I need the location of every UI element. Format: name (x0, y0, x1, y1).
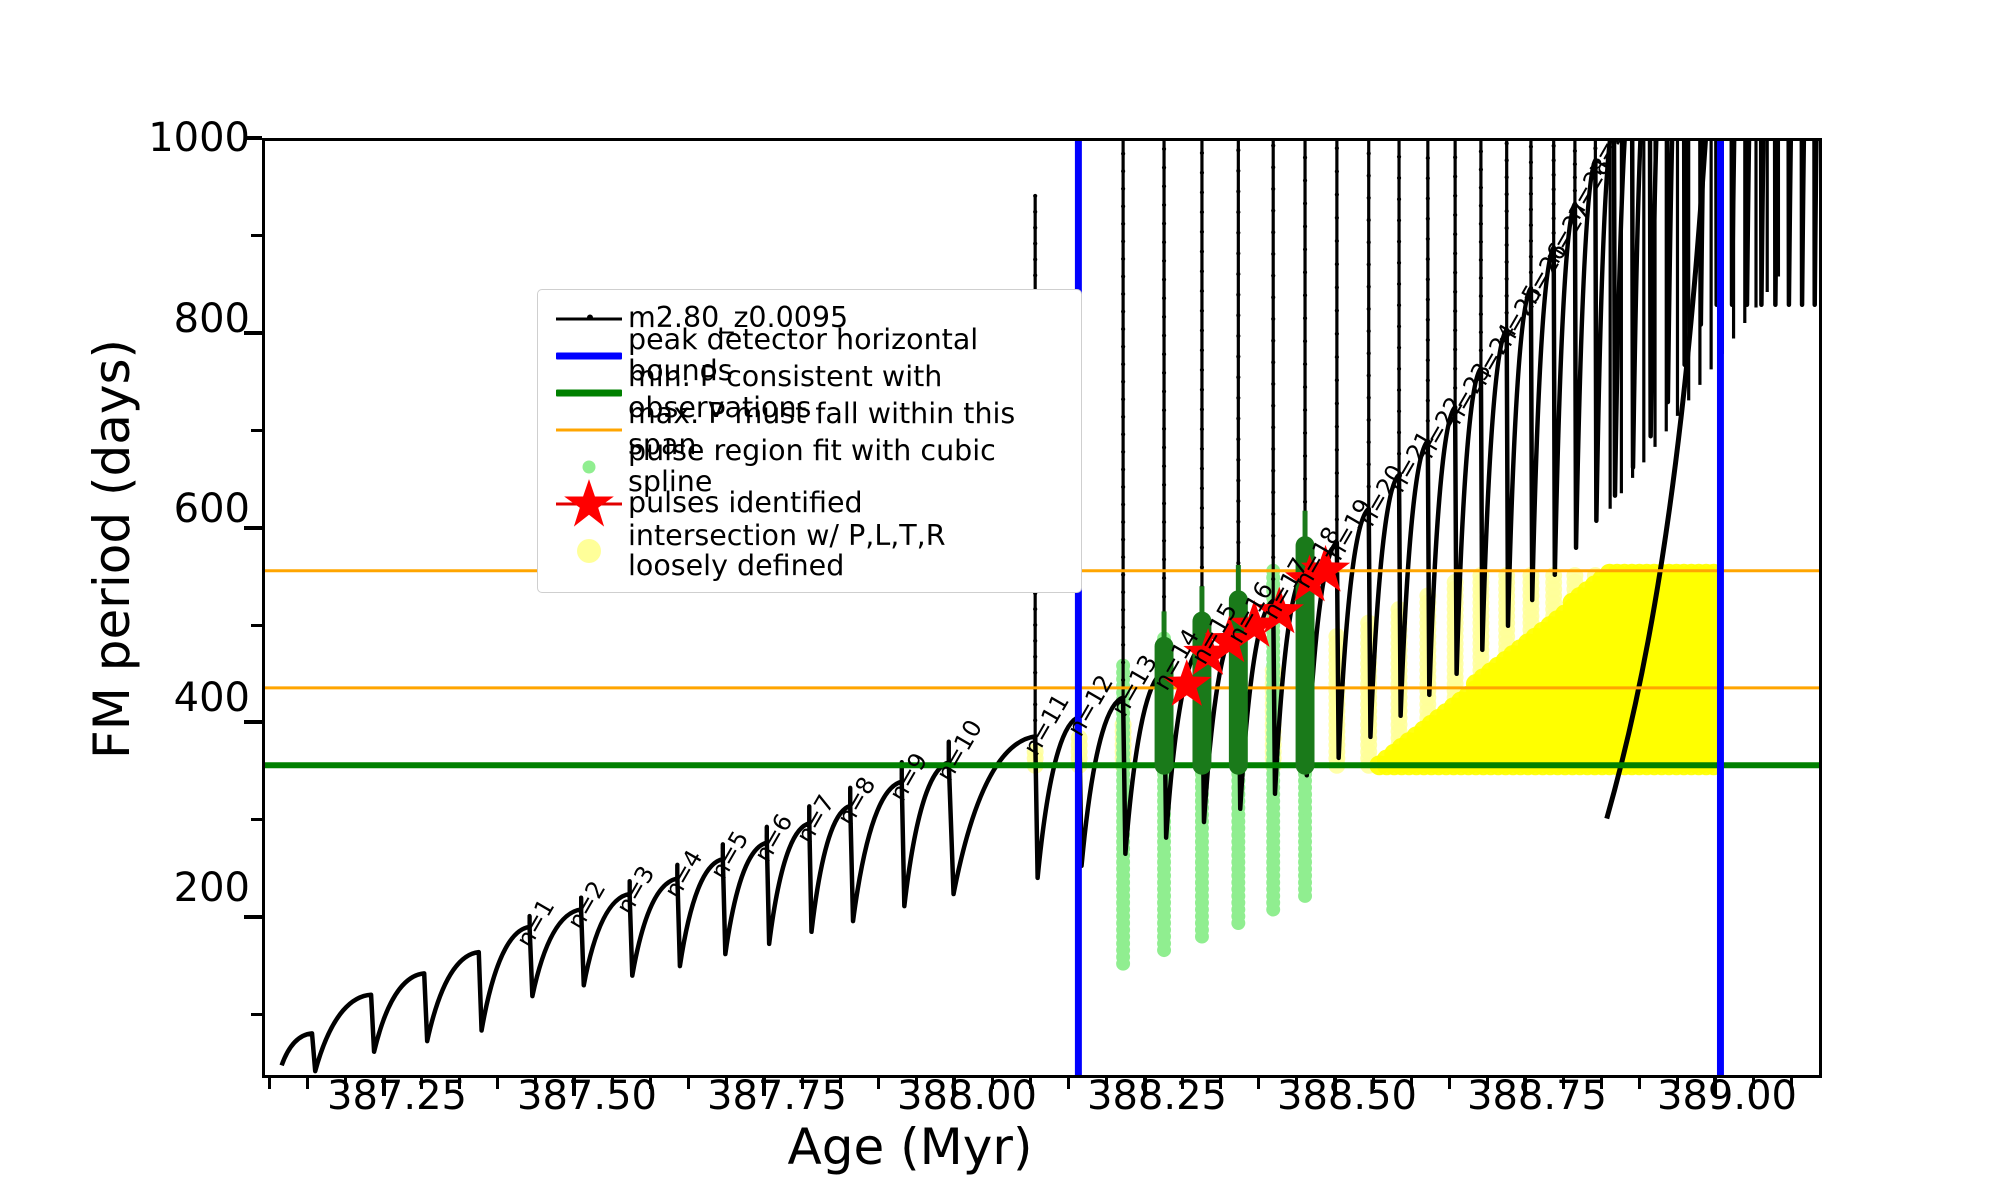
star-icon (562, 477, 616, 531)
y-tick-label-group: 1000 800 600 400 200 (100, 0, 250, 1200)
x-minor-tick (268, 1078, 271, 1089)
red-star-key (550, 485, 628, 522)
x-minor-tick (1105, 1078, 1108, 1089)
y-minor-tick (251, 1013, 262, 1016)
y-major-tick (244, 526, 262, 530)
x-major-tick (1713, 1078, 1717, 1096)
y-minor-tick (251, 234, 262, 237)
x-minor-tick (1067, 1078, 1070, 1089)
x-minor-tick (1257, 1078, 1260, 1089)
x-minor-tick (1029, 1078, 1032, 1089)
y-major-tick (244, 720, 262, 724)
x-minor-tick (1372, 1078, 1375, 1089)
y-tick-label: 400 (100, 678, 250, 718)
x-minor-tick (1486, 1078, 1489, 1089)
x-major-tick (382, 1078, 386, 1096)
x-minor-tick (1219, 1078, 1222, 1089)
x-axis-ticks (262, 1078, 1822, 1098)
legend: m2.80_z0.0095 peak detector horizontal b… (537, 289, 1082, 593)
y-tick-label: 200 (100, 868, 250, 908)
figure-canvas: FM period (days) Age (Myr) 1000 800 600 … (0, 0, 2000, 1200)
y-major-tick (244, 915, 262, 919)
x-minor-tick (1295, 1078, 1298, 1089)
x-major-tick (1143, 1078, 1147, 1096)
x-minor-tick (1448, 1078, 1451, 1089)
plot-area: n=1n=2n=3n=4n=5n=6n=7n=8n=9n=10n=11n=12n… (262, 138, 1822, 1078)
x-minor-tick (1181, 1078, 1184, 1089)
x-minor-tick (496, 1078, 499, 1089)
x-minor-tick (458, 1078, 461, 1089)
x-minor-tick (801, 1078, 804, 1089)
x-minor-tick (649, 1078, 652, 1089)
y-major-tick (244, 331, 262, 335)
x-major-tick (1523, 1078, 1527, 1096)
y-minor-tick (251, 624, 262, 627)
yellow-dot-key (550, 533, 628, 570)
chart-svg (265, 141, 1819, 1075)
y-tick-label: 600 (100, 489, 250, 529)
x-minor-tick (1410, 1078, 1413, 1089)
x-minor-tick (687, 1078, 690, 1089)
x-minor-tick (839, 1078, 842, 1089)
x-major-tick (1333, 1078, 1337, 1096)
x-minor-tick (1562, 1078, 1565, 1089)
y-minor-tick (251, 429, 262, 432)
x-major-tick (952, 1078, 956, 1096)
orange-line-key (550, 411, 628, 448)
x-minor-tick (1638, 1078, 1641, 1089)
x-minor-tick (344, 1078, 347, 1089)
line-marker-key (550, 300, 628, 337)
x-minor-tick (306, 1078, 309, 1089)
x-major-tick (572, 1078, 576, 1096)
x-minor-tick (420, 1078, 423, 1089)
x-minor-tick (1676, 1078, 1679, 1089)
x-minor-tick (1600, 1078, 1603, 1089)
x-minor-tick (877, 1078, 880, 1089)
y-tick-label: 800 (100, 299, 250, 339)
legend-item-intersection[interactable]: intersection w/ P,L,T,R loosely defined (550, 522, 1069, 580)
y-tick-label: 1000 (100, 118, 250, 158)
x-minor-tick (991, 1078, 994, 1089)
legend-label: intersection w/ P,L,T,R loosely defined (628, 521, 946, 581)
x-minor-tick (1752, 1078, 1755, 1089)
x-minor-tick (611, 1078, 614, 1089)
green-line-key (550, 374, 628, 411)
blue-line-key (550, 337, 628, 374)
legend-item-spline-pulse[interactable]: pulse region fit with cubic spline (550, 448, 1069, 485)
x-minor-tick (1790, 1078, 1793, 1089)
y-major-tick (244, 136, 262, 140)
x-minor-tick (915, 1078, 918, 1089)
x-minor-tick (534, 1078, 537, 1089)
x-minor-tick (725, 1078, 728, 1089)
y-minor-tick (251, 818, 262, 821)
legend-label: pulses identified (628, 488, 863, 518)
x-major-tick (762, 1078, 766, 1096)
